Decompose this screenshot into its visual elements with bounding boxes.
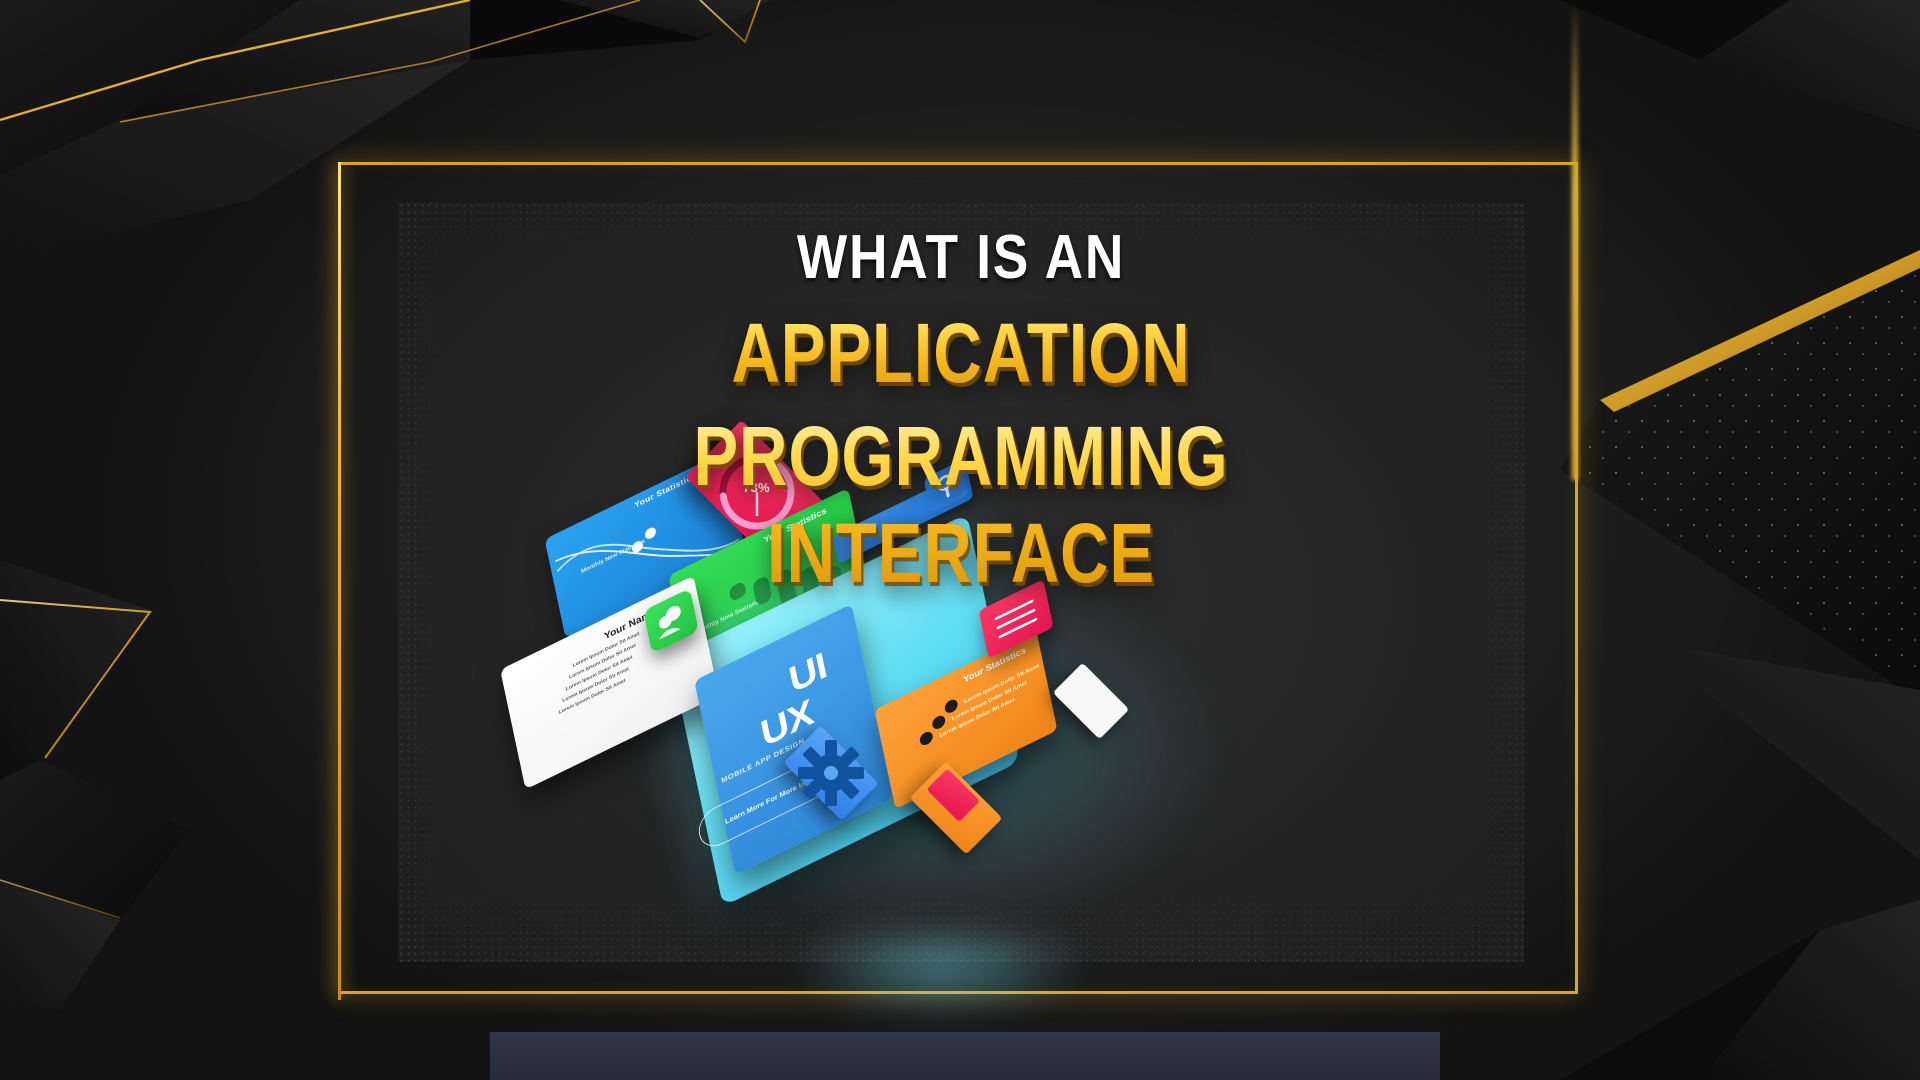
title-block: WHAT IS AN APPLICATION PROGRAMMING INTER…: [398, 222, 1524, 602]
gear-card[interactable]: [783, 725, 878, 820]
gear-icon: [790, 732, 872, 814]
title-line-2: APPLICATION: [511, 305, 1412, 402]
slide-canvas: WHAT IS AN APPLICATION PROGRAMMING INTER…: [0, 0, 1920, 1080]
blank-card: [1053, 663, 1130, 740]
title-line-3: PROGRAMMING INTERFACE: [511, 408, 1412, 602]
bottom-bar: [490, 1032, 1440, 1080]
title-line-1: WHAT IS AN: [477, 222, 1445, 293]
